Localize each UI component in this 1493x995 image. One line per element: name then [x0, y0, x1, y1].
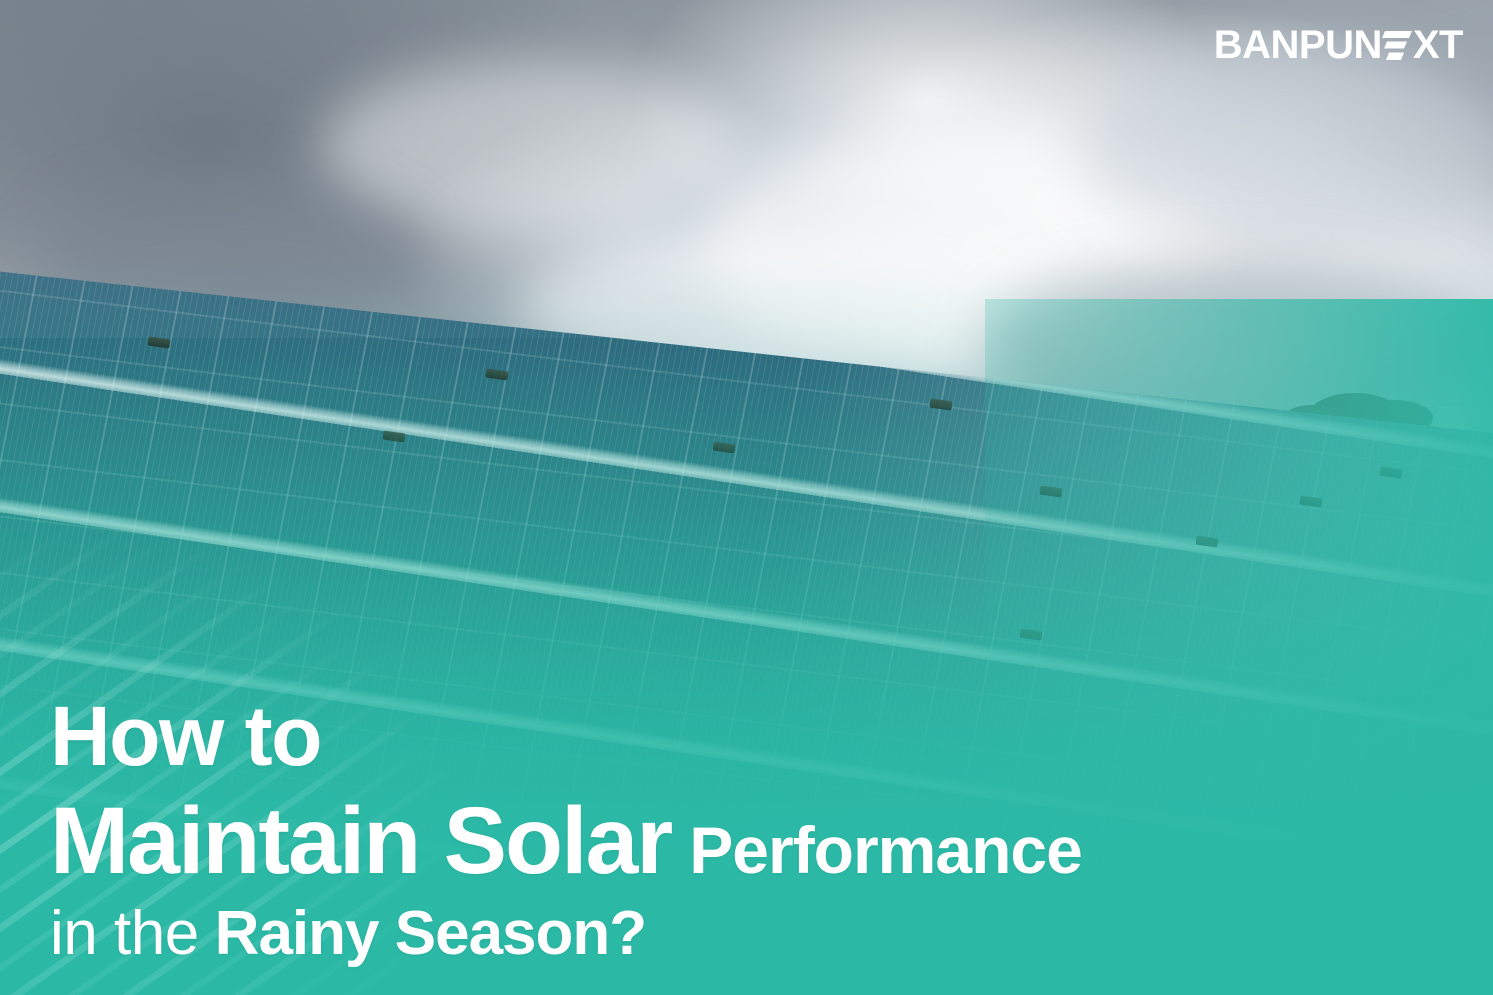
banpunext-logo[interactable]: BANPUN XT: [1214, 24, 1463, 66]
headline-emphasis: Maintain Solar: [50, 794, 671, 889]
solar-rainy-season-banner: BANPUN XT How to Maintain Solar Performa…: [0, 0, 1493, 995]
headline-line3-bold: Rainy Season?: [215, 903, 646, 965]
page-title: How to Maintain Solar Performance in the…: [50, 694, 1082, 965]
headline-line-3: in the Rainy Season?: [50, 903, 1082, 965]
headline-line3-light: in the: [50, 903, 199, 965]
stylized-e-arrow-icon: [1382, 29, 1412, 63]
headline-line-2: Maintain Solar Performance: [50, 794, 1082, 889]
logo-text-after: XT: [1413, 25, 1463, 65]
headline-secondary: Performance: [689, 817, 1082, 883]
headline-line-1: How to: [50, 694, 1082, 778]
logo-text-before: BANPUN: [1214, 25, 1382, 65]
